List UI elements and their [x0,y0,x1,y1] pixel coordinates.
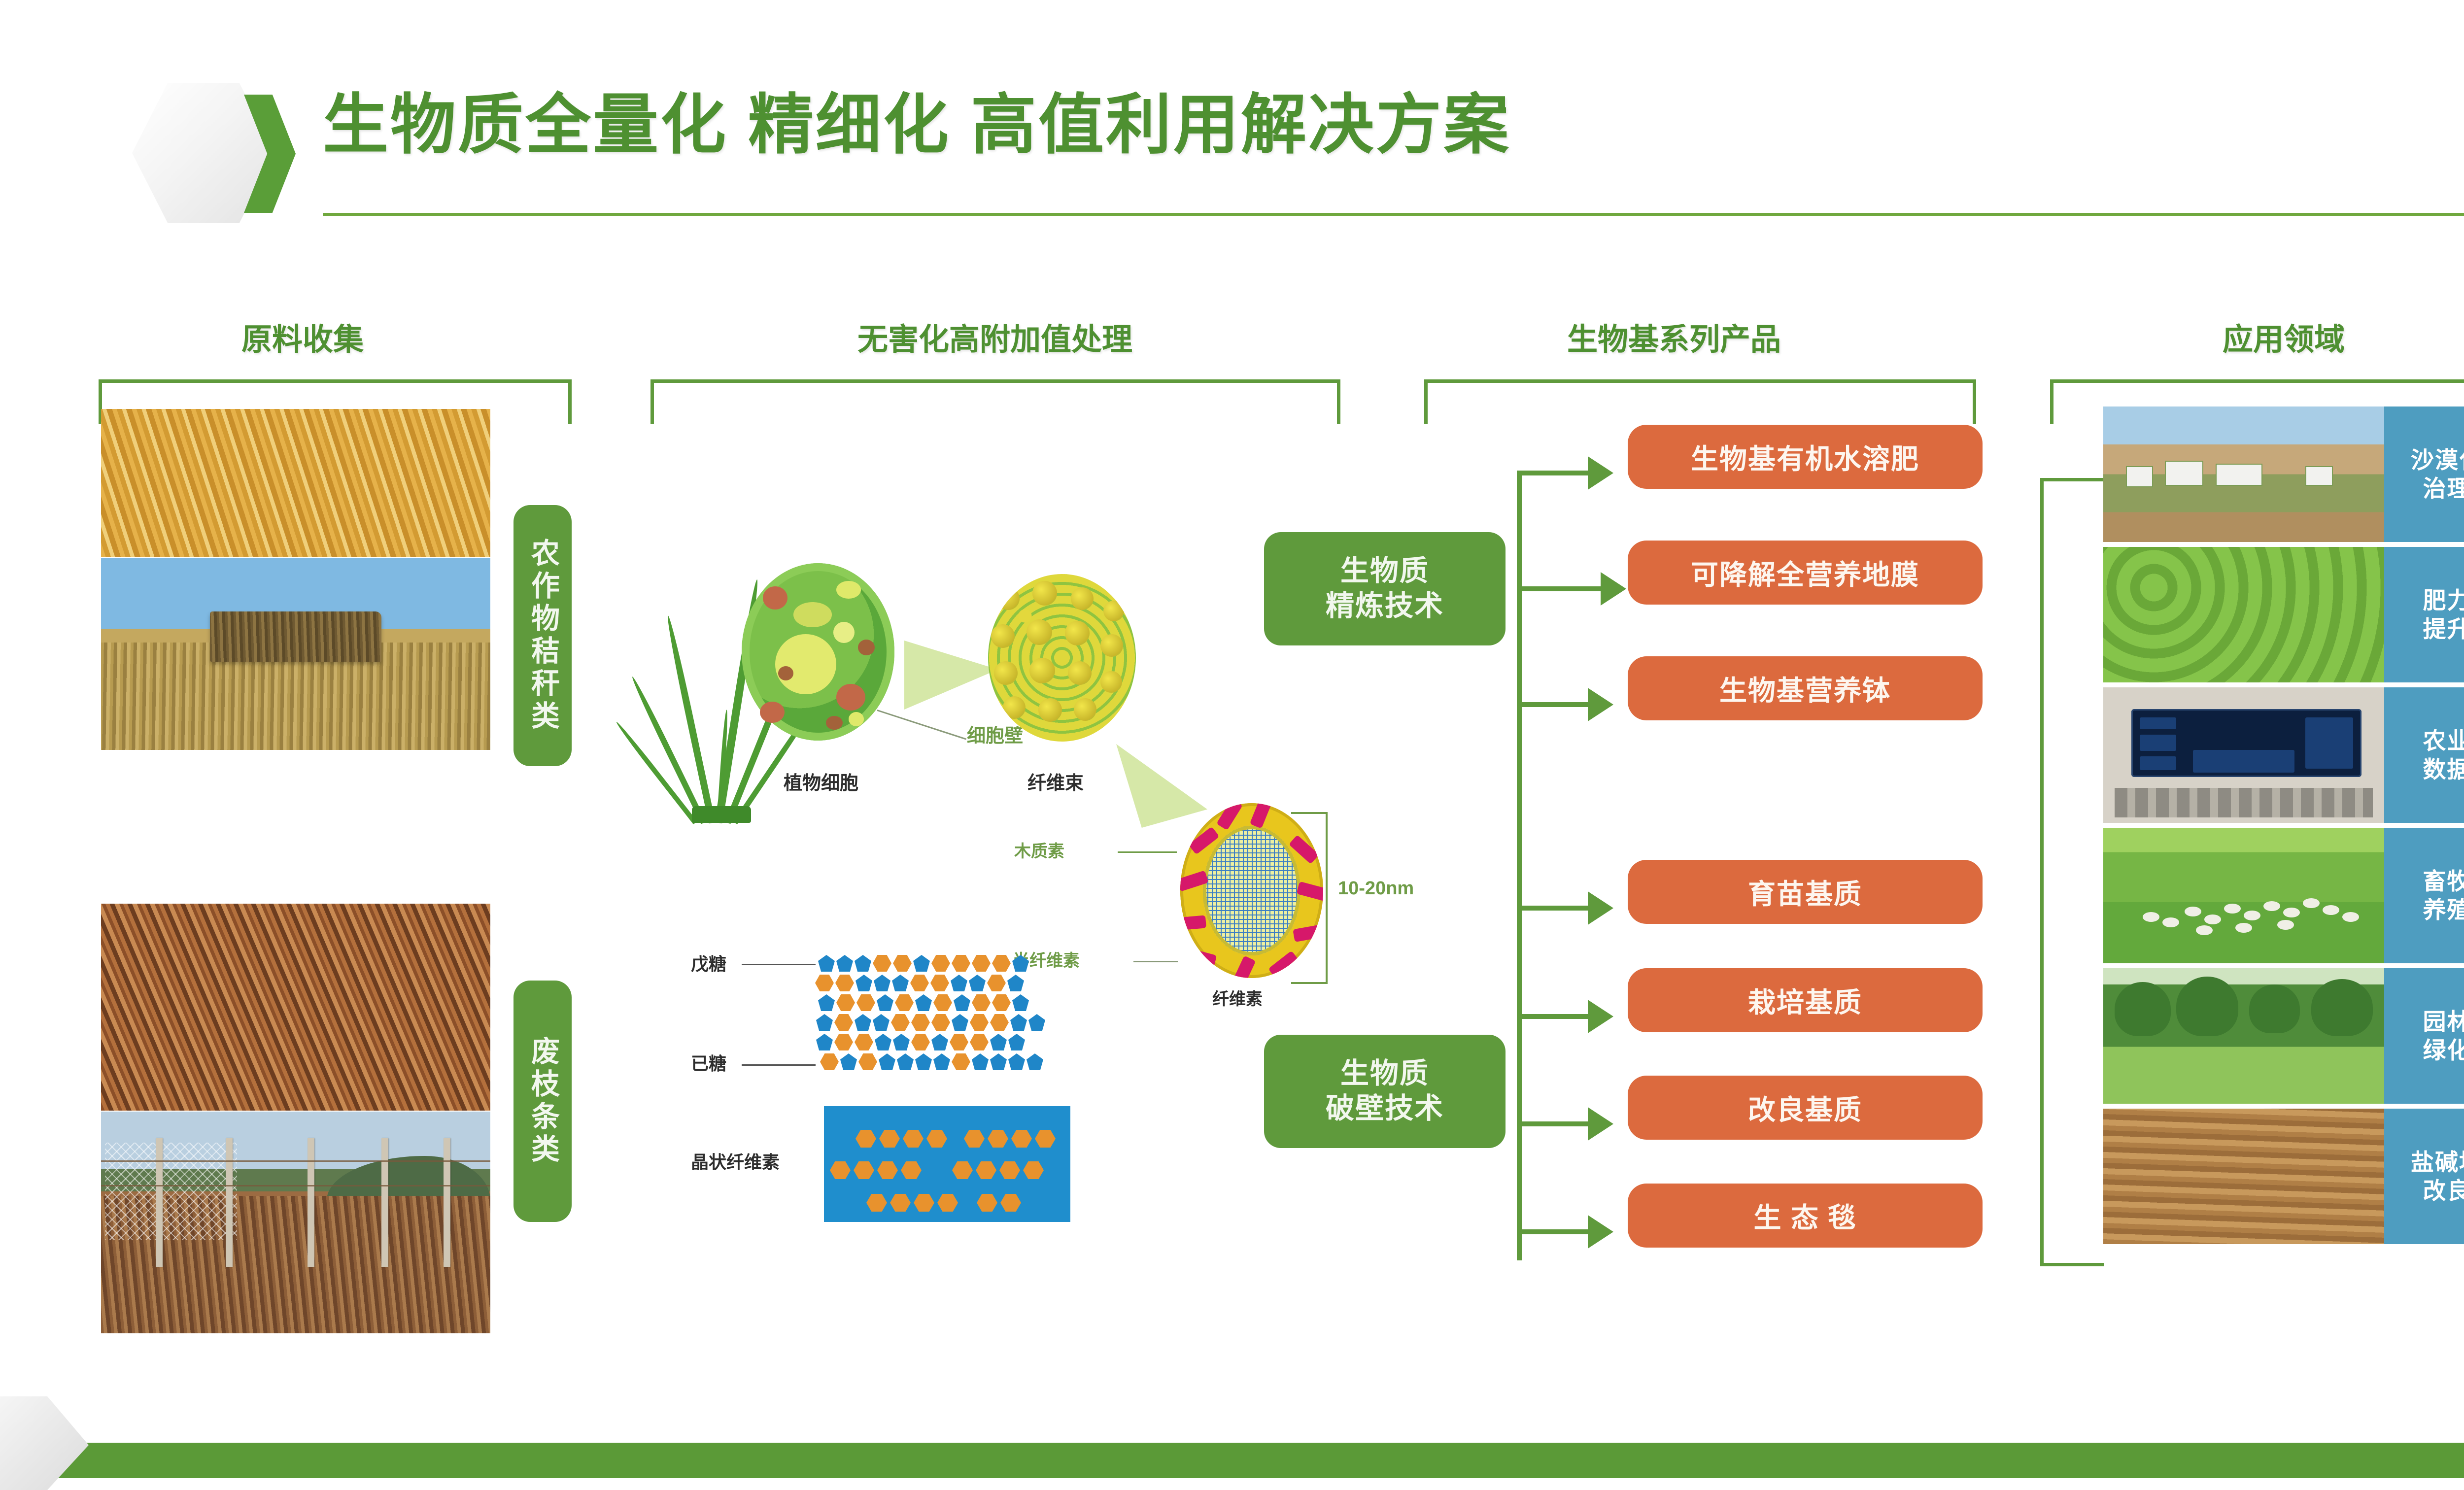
arrow-icon [1588,1000,1613,1033]
section-title-raw-material: 原料收集 [241,314,364,359]
connector-branch [1517,1229,1591,1234]
application-label-desert: 沙漠化治理 [2384,406,2464,542]
lignin-leader-line [1118,851,1177,853]
zoom-beam [1116,744,1207,828]
crystalline-cellulose-illustration [824,1106,1070,1222]
product-box-water-soluble-fertilizer[interactable]: 生物基有机水溶肥 [1628,425,1983,489]
bracket-bio-products [1424,379,1976,424]
connector-branch [1517,702,1591,707]
arrow-icon [1601,572,1626,606]
label-pentose: 戊糖 [691,950,726,976]
application-label-agri-data: 农业数据 [2384,687,2464,823]
bracket-to-applications [2040,478,2104,1266]
vineyard-post [381,1138,388,1267]
connector-branch [1517,1121,1591,1126]
photo-cabbage-field [2103,547,2384,682]
cell-wall-leader-line [877,710,967,740]
hill-shape [327,1156,490,1200]
application-row-landscaping[interactable]: 园林绿化 [2103,968,2464,1104]
tech-box-refining[interactable]: 生物质精炼技术 [1264,532,1506,645]
application-label-fertility: 肥力提升 [2384,547,2464,682]
bracket-processing [650,379,1340,424]
photo-straw-bale-field [101,558,490,750]
arrow-icon [1588,891,1613,925]
product-box-seedling-substrate[interactable]: 育苗基质 [1628,860,1983,924]
arrow-icon [1588,1107,1613,1141]
sugar-chain-illustration [818,955,1094,1088]
hay-bale [210,611,381,661]
product-box-degradable-mulch-film[interactable]: 可降解全营养地膜 [1628,541,1983,605]
photo-corn-straw-field [101,409,490,557]
arrow-icon [1588,456,1613,490]
tag-crop-straw: 农作物秸秆类 [513,505,572,766]
connector-branch [1517,906,1591,911]
photo-agriculture-data-center [2103,687,2384,823]
console-desk [2115,788,2373,818]
application-row-fertility[interactable]: 肥力提升 [2103,547,2464,682]
application-label-saline: 盐碱地改良 [2384,1109,2464,1244]
page-title: 生物质全量化 精细化 高值利用解决方案 [323,86,1511,165]
infographic-page: 生物质全量化 精细化 高值利用解决方案 原料收集 无害化高附加值处理 生物基系列… [0,0,2464,1478]
vineyard-wire [101,1160,490,1162]
cellulose-core [1203,826,1300,955]
photo-vineyard-pruning [101,1112,490,1333]
page-header: 生物质全量化 精细化 高值利用解决方案 [0,0,2464,232]
fiber-bundle-illustration [988,574,1136,742]
section-title-processing: 无害化高附加值处理 [857,314,1132,359]
dimension-tick [1291,982,1328,984]
label-cellulose: 纤维素 [1212,985,1263,1010]
vineyard-post [226,1138,233,1267]
hemicellulose-leader-line [1133,961,1178,962]
arrow-icon [1588,688,1613,721]
application-row-saline[interactable]: 盐碱地改良 [2103,1109,2464,1244]
vineyard-wire [101,1185,490,1186]
application-label-livestock: 畜牧养殖 [2384,828,2464,963]
application-row-livestock[interactable]: 畜牧养殖 [2103,828,2464,963]
tag-waste-branches: 废枝条类 [513,981,572,1222]
zoom-beam [904,641,998,710]
dimension-tick [1291,812,1328,814]
label-dimension: 10-20nm [1338,878,1414,899]
title-divider [323,213,2464,216]
application-label-landscaping: 园林绿化 [2384,968,2464,1104]
plant-cell-illustration [742,563,894,741]
photo-grazing-sheep [2103,828,2384,963]
vineyard-post [156,1138,163,1267]
connector-branch [1517,471,1591,475]
footer-bar [0,1443,2464,1478]
product-box-cultivation-substrate[interactable]: 栽培基质 [1628,968,1983,1032]
label-fiber-bundle: 纤维束 [1027,768,1084,795]
photo-saline-alkali-land [2103,1109,2384,1244]
cellulose-nanofiber-illustration [1180,803,1323,978]
section-title-bio-products: 生物基系列产品 [1567,314,1781,359]
application-row-desert[interactable]: 沙漠化治理 [2103,406,2464,542]
photo-park-landscape [2103,968,2384,1104]
label-plant-cell: 植物细胞 [784,768,858,795]
product-box-nutrition-pot[interactable]: 生物基营养钵 [1628,656,1983,720]
product-box-ecological-blanket[interactable]: 生 态 毯 [1628,1184,1983,1248]
photo-desert-control [2103,406,2384,542]
vineyard-post [444,1138,450,1267]
connector-branch [1517,586,1603,591]
label-cell-wall: 细胞壁 [967,720,1023,747]
vineyard-post [308,1138,314,1267]
section-title-applications: 应用领域 [2223,314,2345,359]
tech-box-cell-wall[interactable]: 生物质破壁技术 [1264,1035,1506,1148]
photo-pruned-branches [101,904,490,1111]
net-texture [105,1143,238,1240]
label-crystalline-cellulose: 晶状纤维素 [691,1148,780,1174]
pentose-leader-line [742,964,816,965]
application-row-agri-data[interactable]: 农业数据 [2103,687,2464,823]
connector-trunk-cellwall [1517,906,1522,1260]
label-lignin: 木质素 [1014,838,1064,862]
label-hexose: 已糖 [691,1050,726,1075]
product-box-improvement-substrate[interactable]: 改良基质 [1628,1076,1983,1140]
arrow-icon [1588,1215,1613,1249]
dimension-line [1326,812,1328,983]
connector-branch [1517,1014,1591,1019]
hexose-leader-line [742,1064,816,1066]
